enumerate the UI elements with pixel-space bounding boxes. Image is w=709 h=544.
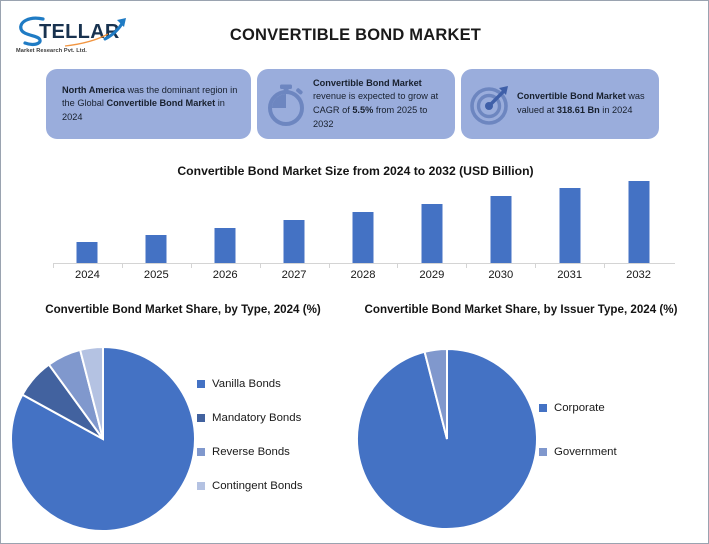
pie-legend-by-issuer: CorporateGovernment [539,386,617,474]
bar-category-label: 2030 [466,269,535,281]
card-text-cagr: Convertible Bond Market revenue is expec… [313,77,447,131]
pie-chart-issuer-title: Convertible Bond Market Share, by Issuer… [356,302,686,318]
bar-column [329,181,398,263]
bar-rect [352,212,373,263]
bar-category-label: 2027 [260,269,329,281]
pie-chart-type-title: Convertible Bond Market Share, by Type, … [33,302,333,318]
pie-legend-by-type: Vanilla BondsMandatory BondsReverse Bond… [197,367,303,503]
card-value-text-2: in 2024 [600,105,633,115]
bar-column [535,181,604,263]
target-arrow-icon [465,76,517,132]
bar-category-label: 2025 [122,269,191,281]
bar-chart-title: Convertible Bond Market Size from 2024 t… [1,164,709,178]
bar-category-label: 2024 [53,269,122,281]
legend-label: Corporate [554,402,605,414]
legend-label: Contingent Bonds [212,480,303,492]
bar-category-label: 2026 [191,269,260,281]
pie-chart-by-type [11,342,201,542]
bar-column [397,181,466,263]
legend-item: Vanilla Bonds [197,367,303,401]
highlight-card-value: Convertible Bond Market was valued at 31… [461,69,659,139]
legend-item: Corporate [539,386,617,430]
bar-rect [77,242,98,263]
bar-rect [146,235,167,263]
bar-category-label: 2028 [329,269,398,281]
infographic-page: TELLAR Market Research Pvt. Ltd. CONVERT… [0,0,709,544]
bar-column [466,181,535,263]
bar-rect [628,181,649,263]
page-title: CONVERTIBLE BOND MARKET [1,26,709,45]
bar-column [53,181,122,263]
legend-label: Government [554,446,617,458]
bar-column [191,181,260,263]
bar-column [122,181,191,263]
card-region-bold-1: North America [62,85,125,95]
card-text-value: Convertible Bond Market was valued at 31… [517,90,651,117]
legend-swatch [197,482,205,490]
bar-chart-plot [53,181,673,263]
legend-item: Government [539,430,617,474]
bar-category-label: 2029 [397,269,466,281]
pie-chart-by-issuer [357,342,542,542]
bar-column [604,181,673,263]
legend-label: Mandatory Bonds [212,412,301,424]
bar-rect [559,188,580,263]
card-value-bold-1: Convertible Bond Market [517,91,626,101]
bar-chart-axis-line [53,263,675,264]
bar-rect [215,228,236,263]
bar-rect [421,204,442,263]
bar-rect [284,220,305,263]
card-cagr-bold-1: Convertible Bond Market [313,78,422,88]
legend-swatch [539,404,547,412]
legend-item: Contingent Bonds [197,469,303,503]
card-cagr-bold-2: 5.5% [352,105,373,115]
bar-category-label: 2032 [604,269,673,281]
legend-swatch [197,380,205,388]
bar-rect [490,196,511,263]
logo-tagline: Market Research Pvt. Ltd. [16,48,87,54]
legend-swatch [539,448,547,456]
legend-item: Mandatory Bonds [197,401,303,435]
legend-swatch [197,448,205,456]
legend-label: Reverse Bonds [212,446,290,458]
bar-category-label: 2031 [535,269,604,281]
card-region-bold-2: Convertible Bond Market [106,98,215,108]
stopwatch-icon [261,76,313,132]
highlight-card-region: North America was the dominant region in… [46,69,251,139]
bar-column [260,181,329,263]
legend-swatch [197,414,205,422]
card-value-bold-2: 318.61 Bn [557,105,600,115]
legend-label: Vanilla Bonds [212,378,281,390]
card-text-region: North America was the dominant region in… [62,84,241,125]
legend-item: Reverse Bonds [197,435,303,469]
highlight-card-cagr: Convertible Bond Market revenue is expec… [257,69,455,139]
